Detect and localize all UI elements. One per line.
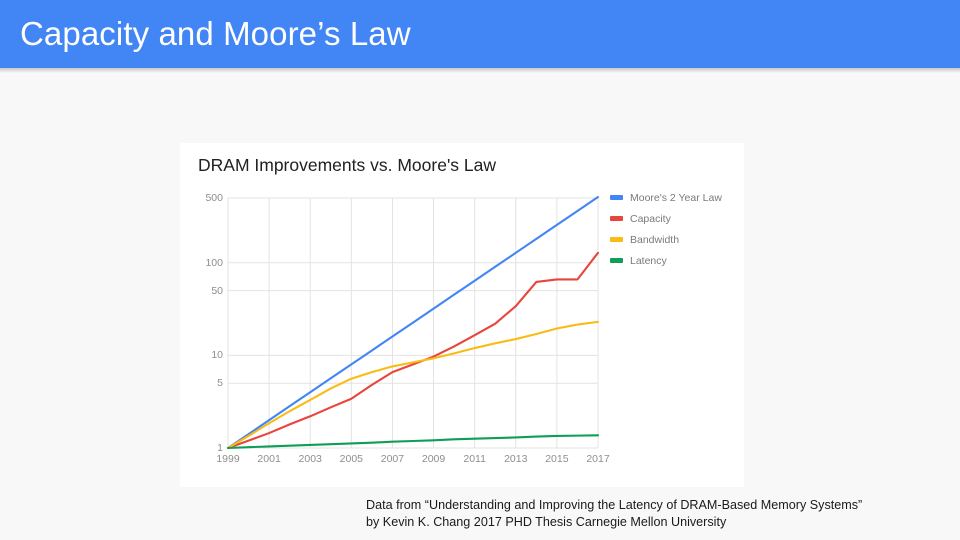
x-axis-tick-label: 2007: [381, 453, 404, 465]
x-axis-tick-label: 2001: [257, 453, 280, 465]
legend-item[interactable]: Moore's 2 Year Law: [610, 187, 740, 208]
series-line: [228, 435, 598, 448]
x-axis-tick-label: 2011: [463, 453, 486, 465]
x-axis-tick-label: 2009: [422, 453, 445, 465]
legend-item-label: Moore's 2 Year Law: [630, 192, 722, 204]
x-axis-ticks: 1999200120032005200720092011201320152017: [228, 453, 598, 469]
x-axis-tick-label: 2017: [586, 453, 609, 465]
slide-header: Capacity and Moore’s Law: [0, 0, 960, 68]
series-line: [228, 197, 598, 448]
legend-swatch-icon: [610, 216, 623, 221]
y-axis-tick-label: 50: [211, 285, 223, 297]
y-axis-tick-label: 5: [217, 377, 223, 389]
chart-title: DRAM Improvements vs. Moore's Law: [198, 155, 496, 176]
x-axis-tick-label: 2013: [504, 453, 527, 465]
legend-item[interactable]: Bandwidth: [610, 229, 740, 250]
x-axis-tick-label: 2003: [299, 453, 322, 465]
chart-legend: Moore's 2 Year LawCapacityBandwidthLaten…: [610, 187, 740, 271]
legend-swatch-icon: [610, 258, 623, 263]
y-axis-tick-label: 500: [205, 192, 223, 204]
legend-item[interactable]: Capacity: [610, 208, 740, 229]
y-axis-ticks: 500100501051: [180, 198, 223, 448]
series-line: [228, 253, 598, 448]
legend-item[interactable]: Latency: [610, 250, 740, 271]
chart-plot-area: [228, 198, 598, 448]
y-axis-tick-label: 100: [205, 257, 223, 269]
legend-item-label: Capacity: [630, 213, 671, 225]
caption-line-1: Data from “Understanding and Improving t…: [366, 497, 952, 514]
y-axis-tick-label: 10: [211, 349, 223, 361]
legend-item-label: Latency: [630, 255, 667, 267]
series-line: [228, 322, 598, 448]
x-axis-tick-label: 1999: [216, 453, 239, 465]
x-axis-tick-label: 2005: [340, 453, 363, 465]
header-shadow: [0, 68, 960, 73]
source-caption: Data from “Understanding and Improving t…: [366, 497, 952, 531]
series-lines: [228, 197, 598, 448]
legend-swatch-icon: [610, 195, 623, 200]
caption-line-2: by Kevin K. Chang 2017 PHD Thesis Carneg…: [366, 514, 952, 531]
legend-item-label: Bandwidth: [630, 234, 679, 246]
page-title: Capacity and Moore’s Law: [20, 15, 411, 53]
legend-swatch-icon: [610, 237, 623, 242]
x-axis-tick-label: 2015: [545, 453, 568, 465]
chart-card: DRAM Improvements vs. Moore's Law 500100…: [180, 143, 744, 487]
chart-svg: [228, 198, 598, 448]
